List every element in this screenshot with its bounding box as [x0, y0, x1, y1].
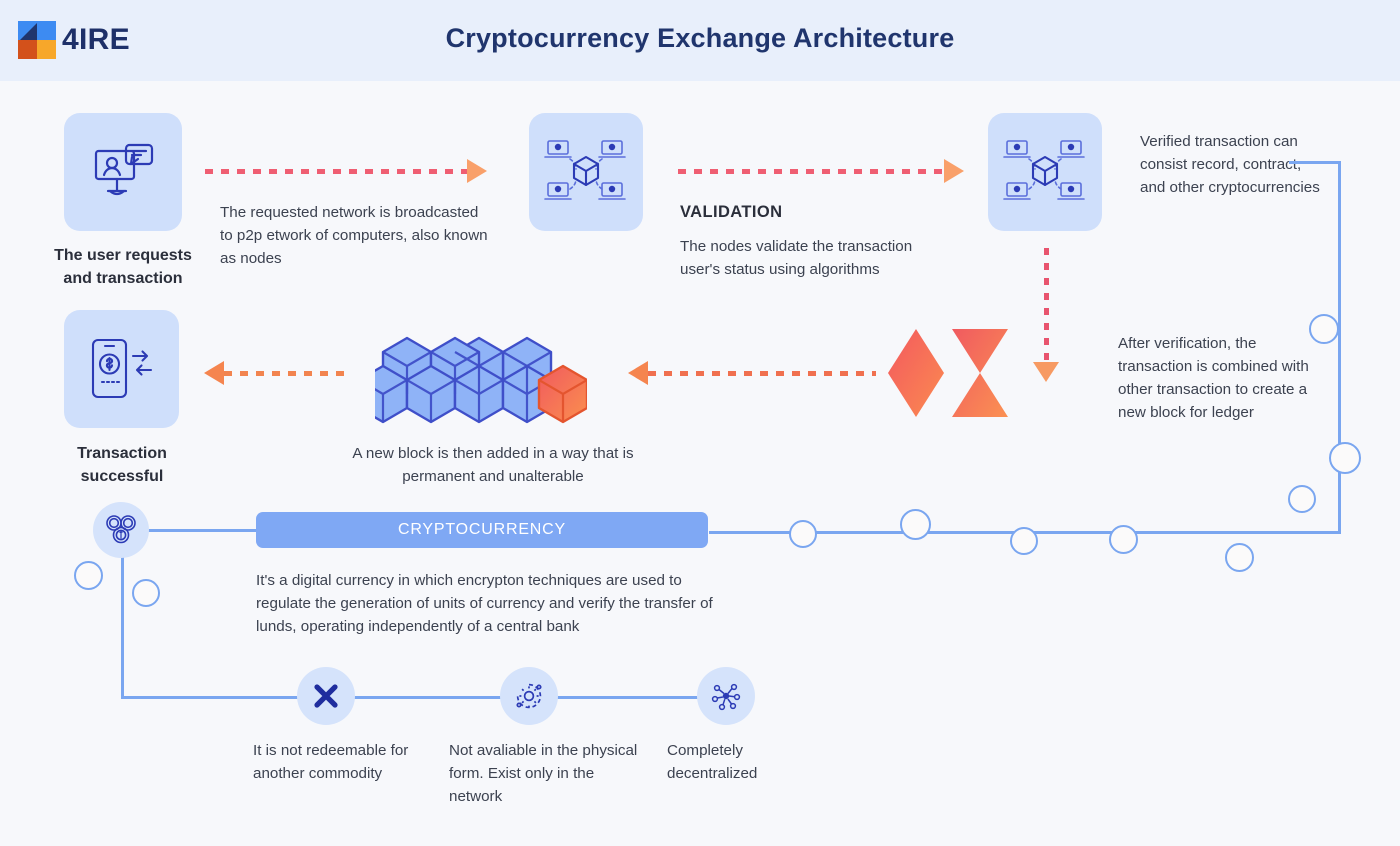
blocks-description: A new block is then added in a way that …: [343, 442, 643, 488]
verified-transaction-description: Verified transaction can consist record,…: [1140, 130, 1330, 199]
transaction-successful-tile: [64, 310, 179, 428]
cryptocurrency-bar[interactable]: CRYPTOCURRENCY: [256, 512, 708, 548]
connector-line-vertical-left: [121, 556, 124, 699]
merge-chevron-icon: [886, 327, 1012, 419]
after-verification-description: After verification, the transaction is c…: [1118, 332, 1318, 424]
step4-caption: Transaction successful: [26, 442, 218, 488]
connector-line-top-right: [1289, 161, 1341, 164]
phone-transaction-icon: [87, 336, 157, 402]
deco-circle-4: [1225, 543, 1254, 572]
p2p-network-cube-icon-2: [1001, 135, 1089, 209]
crypto-coins-badge: [93, 502, 149, 558]
header-bar: 4IRE Cryptocurrency Exchange Architectur…: [0, 0, 1400, 81]
dashed-arrow-left-icon-1: [204, 362, 351, 384]
crypto-coins-icon: [104, 514, 138, 546]
feature-text-2: Not avaliable in the physical form. Exis…: [449, 739, 639, 808]
gear-settings-icon: [513, 680, 545, 712]
feature-badge-1: [297, 667, 355, 725]
dashed-arrow-left-icon-2: [628, 362, 876, 384]
feature-text-1: It is not redeemable for another commodi…: [253, 739, 443, 785]
cryptocurrency-description: It's a digital currency in which encrypt…: [256, 569, 716, 638]
deco-circle-9: [74, 561, 103, 590]
connector-line-vertical-right: [1338, 161, 1341, 534]
p2p-network-cube-icon-1: [542, 135, 630, 209]
connector-line-bottom-right: [553, 696, 701, 699]
step1-description: The requested network is broadcasted to …: [220, 201, 490, 270]
step1-caption: The user requests and transaction: [24, 244, 222, 290]
feature-badge-3: [697, 667, 755, 725]
page-title: Cryptocurrency Exchange Architecture: [0, 23, 1400, 54]
deco-circle-5: [1109, 525, 1138, 554]
feature-badge-2: [500, 667, 558, 725]
validation-heading: VALIDATION: [680, 203, 782, 222]
user-request-tile: [64, 113, 182, 231]
feature-text-3: Completely decentralized: [667, 739, 837, 785]
cross-x-icon: [312, 682, 340, 710]
deco-circle-10: [132, 579, 160, 607]
dashed-arrow-right-icon-2: [678, 160, 964, 182]
deco-circle-8: [789, 520, 817, 548]
deco-circle-7: [900, 509, 931, 540]
decentralized-network-icon: [710, 680, 742, 712]
deco-circle-1: [1309, 314, 1339, 344]
infographic-canvas: 4IRE Cryptocurrency Exchange Architectur…: [0, 0, 1400, 846]
p2p-network-tile-1: [529, 113, 643, 231]
blockchain-cubes-icon: [375, 328, 587, 424]
deco-circle-2: [1329, 442, 1361, 474]
user-request-monitor-icon: [90, 141, 156, 203]
connector-line-bottom-left: [121, 696, 307, 699]
dashed-arrow-right-icon-1: [205, 160, 487, 182]
deco-circle-3: [1288, 485, 1316, 513]
validation-description: The nodes validate the transaction user'…: [680, 235, 920, 281]
p2p-network-tile-2: [988, 113, 1102, 231]
connector-line-coins-right: [148, 529, 260, 532]
deco-circle-6: [1010, 527, 1038, 555]
dashed-arrow-down-icon: [1033, 248, 1059, 382]
connector-line-bottom-mid: [345, 696, 505, 699]
